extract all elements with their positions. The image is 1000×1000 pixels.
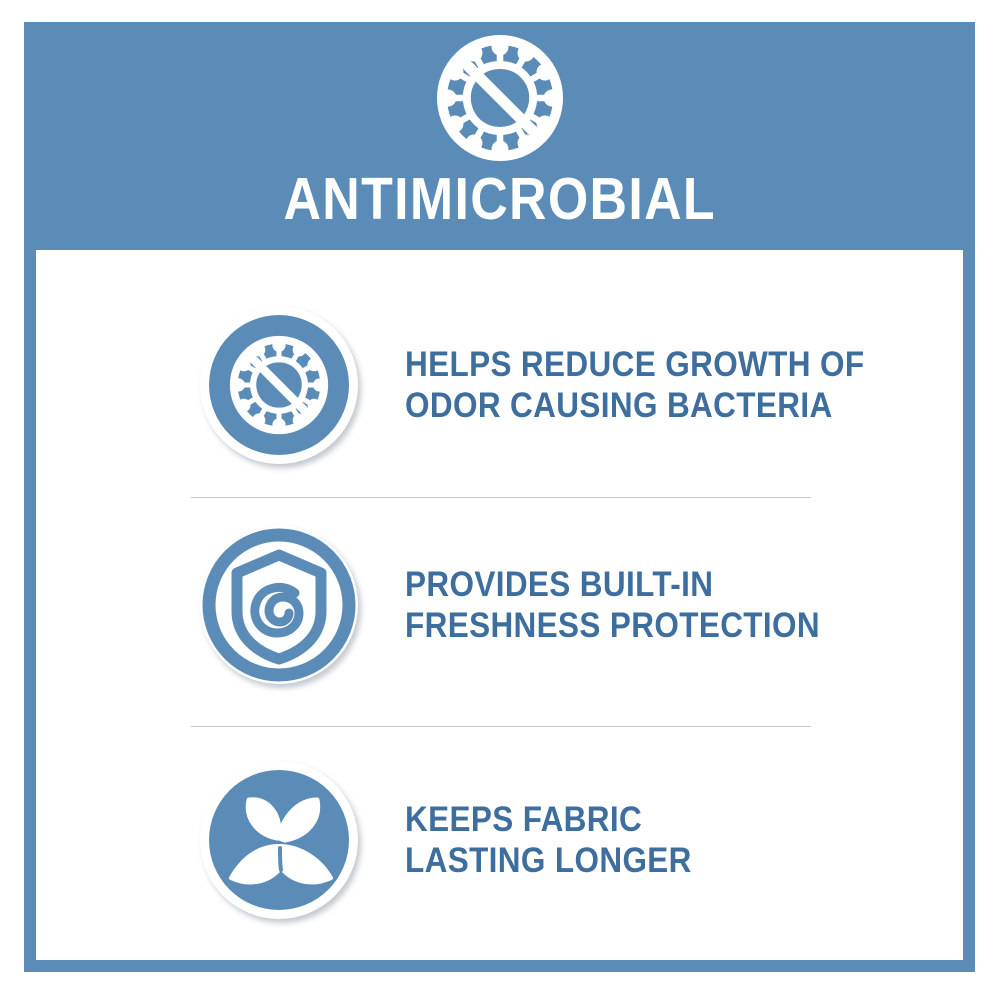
feature-row: PROVIDES BUILT-IN FRESHNESS PROTECTION <box>36 515 963 695</box>
feature-text-line1: PROVIDES BUILT-IN <box>405 564 820 605</box>
feature-text-line1: HELPS REDUCE GROWTH OF <box>405 344 864 385</box>
badge-wrapper <box>199 305 359 465</box>
header-banner: ANTIMICROBIAL <box>24 22 975 250</box>
antimicrobial-infographic: ANTIMICROBIAL <box>0 0 1000 1000</box>
page-title: ANTIMICROBIAL <box>283 170 715 229</box>
badge-wrapper <box>199 760 359 920</box>
feature-text-line2: ODOR CAUSING BACTERIA <box>405 385 864 426</box>
feature-text: PROVIDES BUILT-IN FRESHNESS PROTECTION <box>405 564 820 647</box>
no-germ-badge-icon <box>199 305 359 465</box>
feature-text: HELPS REDUCE GROWTH OF ODOR CAUSING BACT… <box>405 344 864 427</box>
leaf-sprout-badge-icon <box>199 760 359 920</box>
feature-row: HELPS REDUCE GROWTH OF ODOR CAUSING BACT… <box>36 295 963 475</box>
feature-row: KEEPS FABRIC LASTING LONGER <box>36 750 963 930</box>
feature-text-line2: FRESHNESS PROTECTION <box>405 605 820 646</box>
shield-spiral-badge-icon <box>199 525 359 685</box>
no-germ-icon <box>425 32 575 172</box>
row-divider <box>191 726 811 727</box>
feature-text: KEEPS FABRIC LASTING LONGER <box>405 799 692 882</box>
feature-text-line1: KEEPS FABRIC <box>405 799 692 840</box>
feature-text-line2: LASTING LONGER <box>405 840 692 881</box>
row-divider <box>191 497 811 498</box>
badge-wrapper <box>199 525 359 685</box>
features-list: HELPS REDUCE GROWTH OF ODOR CAUSING BACT… <box>36 250 963 960</box>
